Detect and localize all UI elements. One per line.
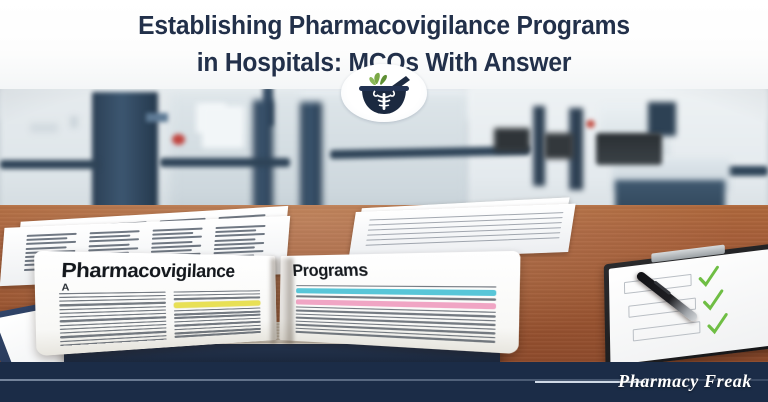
brand-logo-badge <box>341 82 427 122</box>
book-text-column <box>173 290 261 340</box>
green-checkmark-icon <box>697 264 719 289</box>
green-checkmark-icon <box>702 288 724 313</box>
footer-bar: Pharmacy Freak <box>0 362 768 402</box>
book-spine-gutter <box>271 258 293 344</box>
book-left-page: Pharmacovigilance A <box>34 251 277 356</box>
mortar-and-pestle-caduceus-icon <box>350 70 418 120</box>
sheet-text-rows <box>365 212 563 251</box>
book-right-page: Programs <box>279 251 520 354</box>
page-title-line-1: Establishing Pharmacovigilance Programs <box>13 8 754 45</box>
featured-image-card: Pharmacovigilance A Programs <box>0 0 768 402</box>
book-right-page-heading: Programs <box>292 260 368 281</box>
open-textbook: Pharmacovigilance A Programs <box>66 256 498 368</box>
yellow-highlight <box>173 300 260 308</box>
book-text-column <box>59 291 166 346</box>
book-right-page-lines <box>295 285 496 345</box>
brand-name: Pharmacy Freak <box>618 371 752 392</box>
green-checkmark-icon <box>706 312 728 337</box>
book-left-page-columns <box>59 290 261 346</box>
book-left-page-heading: Pharmacovigilance <box>60 259 235 284</box>
